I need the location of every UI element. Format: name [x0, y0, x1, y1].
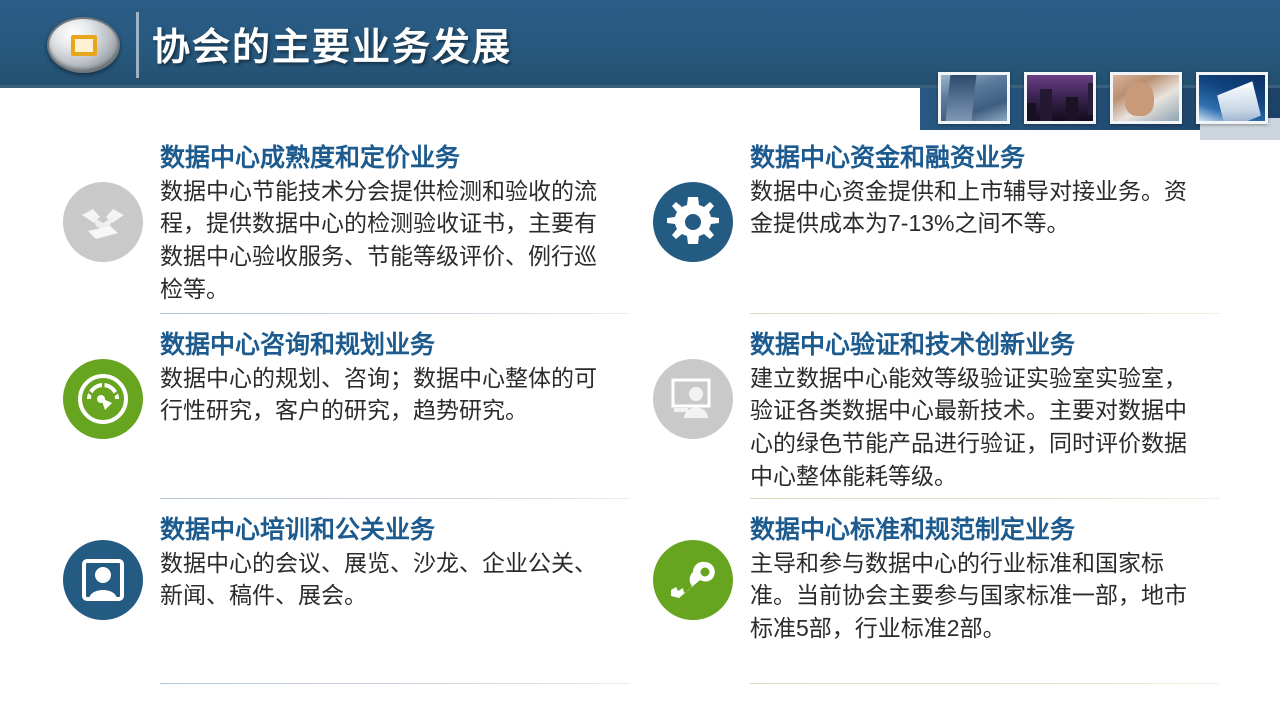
- presenter-board-icon: [653, 359, 733, 439]
- block-training-pr: 数据中心培训和公关业务 数据中心的会议、展览、沙龙、企业公关、新闻、稿件、展会。: [55, 500, 645, 685]
- key-icon: [653, 540, 733, 620]
- left-column: 数据中心成熟度和定价业务 数据中心节能技术分会提供检测和验收的流程，提供数据中心…: [55, 130, 645, 685]
- block-title: 数据中心资金和融资业务: [750, 144, 1235, 173]
- block-title: 数据中心成熟度和定价业务: [160, 144, 645, 173]
- divider-left-2: [160, 498, 630, 499]
- glass-tower-photo: [938, 72, 1010, 124]
- header-divider-rule: [136, 12, 139, 78]
- block-title: 数据中心咨询和规划业务: [160, 331, 645, 360]
- handshake-icon: [63, 182, 143, 262]
- block-verification-innovation: 数据中心验证和技术创新业务 建立数据中心能效等级验证实验室实验室，验证各类数据中…: [645, 315, 1235, 500]
- block-title: 数据中心标准和规范制定业务: [750, 516, 1235, 545]
- divider-right-1: [750, 313, 1220, 314]
- portrait-frame-icon: [63, 540, 143, 620]
- divider-left-3: [160, 683, 630, 684]
- divider-right-3: [750, 683, 1220, 684]
- block-body: 数据中心资金提供和上市辅导对接业务。资金提供成本为7-13%之间不等。: [750, 175, 1202, 240]
- logo-inner-square: [71, 35, 97, 56]
- block-body: 数据中心节能技术分会提供检测和验收的流程，提供数据中心的检测验收证书，主要有数据…: [160, 175, 612, 306]
- block-body: 数据中心的会议、展览、沙龙、企业公关、新闻、稿件、展会。: [160, 547, 612, 612]
- speedometer-icon: [63, 359, 143, 439]
- rounded-square-logo-icon: [47, 17, 120, 73]
- slide-root: 协会的主要业务发展 数据中心成熟度和定价业务 数据中心节能技术分会提供检测和验收…: [0, 0, 1280, 719]
- content-columns: 数据中心成熟度和定价业务 数据中心节能技术分会提供检测和验收的流程，提供数据中心…: [0, 130, 1280, 719]
- phone-call-photo: [1110, 72, 1182, 124]
- block-body: 建立数据中心能效等级验证实验室实验室，验证各类数据中心最新技术。主要对数据中心的…: [750, 362, 1202, 493]
- block-maturity-pricing: 数据中心成熟度和定价业务 数据中心节能技术分会提供检测和验收的流程，提供数据中心…: [55, 130, 645, 315]
- gear-icon: [653, 182, 733, 262]
- block-body: 数据中心的规划、咨询；数据中心整体的可行性研究，客户的研究，趋势研究。: [160, 362, 612, 427]
- divider-left-1: [160, 313, 630, 314]
- divider-right-2: [750, 498, 1220, 499]
- block-funding-financing: 数据中心资金和融资业务 数据中心资金提供和上市辅导对接业务。资金提供成本为7-1…: [645, 130, 1235, 315]
- block-title: 数据中心验证和技术创新业务: [750, 331, 1235, 360]
- block-standards-specification: 数据中心标准和规范制定业务 主导和参与数据中心的行业标准和国家标准。当前协会主要…: [645, 500, 1235, 685]
- block-consulting-planning: 数据中心咨询和规划业务 数据中心的规划、咨询；数据中心整体的可行性研究，客户的研…: [55, 315, 645, 500]
- night-skyline-photo: [1024, 72, 1096, 124]
- block-body: 主导和参与数据中心的行业标准和国家标准。当前协会主要参与国家标准一部，地市标准5…: [750, 547, 1202, 645]
- right-column: 数据中心资金和融资业务 数据中心资金提供和上市辅导对接业务。资金提供成本为7-1…: [645, 130, 1235, 685]
- page-title: 协会的主要业务发展: [152, 16, 512, 71]
- skyscraper-upward-photo: [1196, 72, 1268, 124]
- block-title: 数据中心培训和公关业务: [160, 516, 645, 545]
